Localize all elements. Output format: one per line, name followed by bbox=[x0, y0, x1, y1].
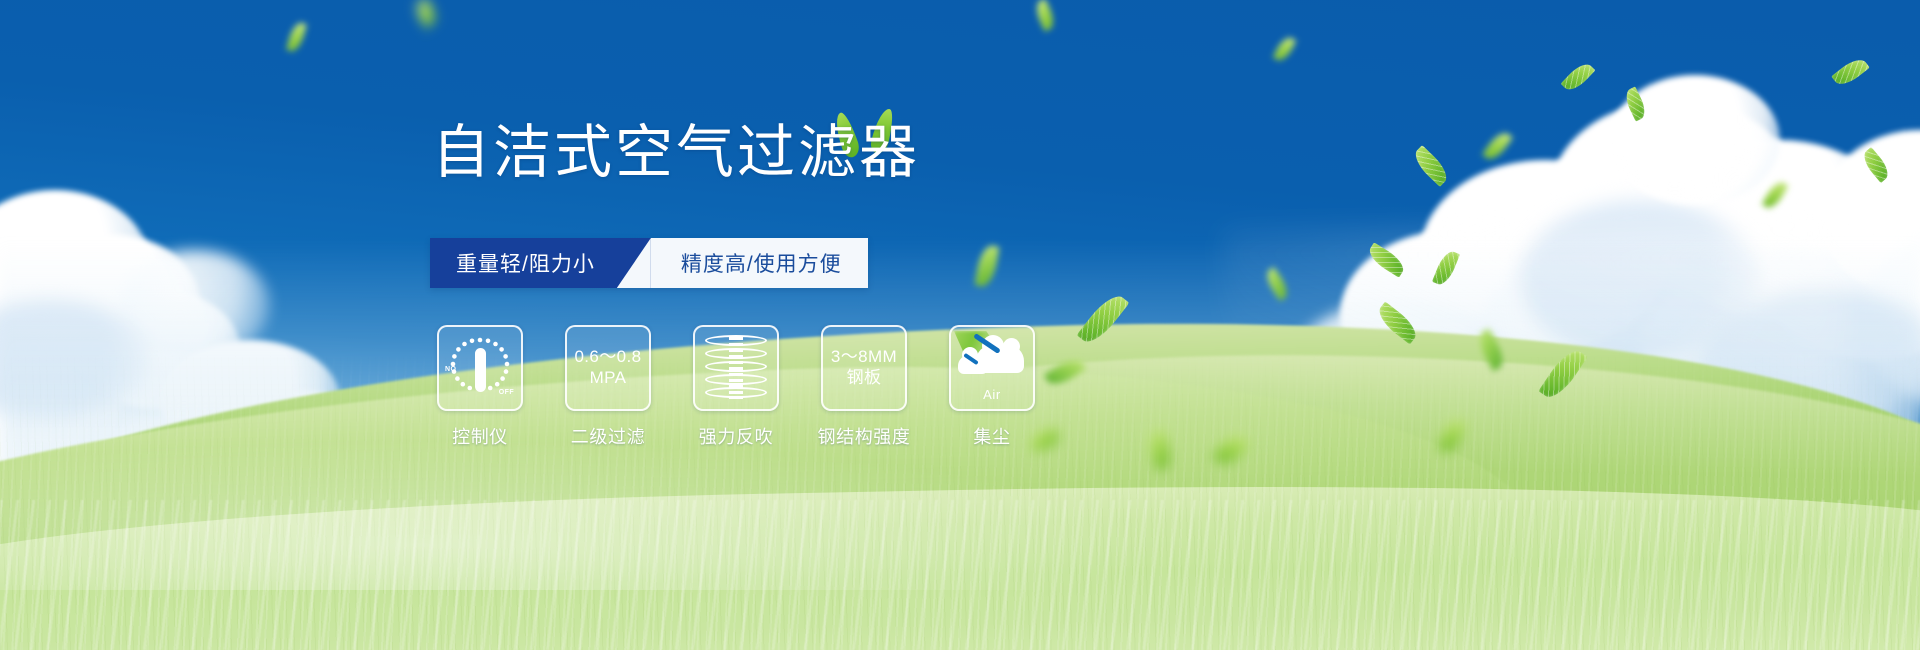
feature-tag-group: 重量轻/阻力小 精度高/使用方便 bbox=[430, 238, 868, 288]
feature-label: 集尘 bbox=[973, 423, 1010, 449]
gauge-on-label: NO bbox=[445, 366, 456, 373]
feature-icon-box bbox=[693, 325, 779, 411]
feature-label: 控制仪 bbox=[452, 423, 508, 449]
coil-ring bbox=[705, 374, 767, 385]
pressure-value: 0.6～0.8 bbox=[574, 347, 641, 368]
steel-plate-icon: 3～8MM 钢板 bbox=[831, 347, 897, 388]
tag-precision-convenience[interactable]: 精度高/使用方便 bbox=[651, 238, 868, 288]
feature-icon-box: 3～8MM 钢板 bbox=[821, 325, 907, 411]
pressure-icon: 0.6～0.8 MPA bbox=[574, 347, 641, 388]
feature-controller[interactable]: NO OFF 控制仪 bbox=[430, 325, 530, 449]
coil-filter-icon bbox=[705, 335, 767, 401]
gauge-off-label: OFF bbox=[499, 389, 514, 396]
steel-thickness: 3～8MM bbox=[831, 347, 897, 368]
feature-icon-box: NO OFF bbox=[437, 325, 523, 411]
gauge-dial-icon: NO OFF bbox=[444, 332, 516, 404]
tag-weight-resistance[interactable]: 重量轻/阻力小 bbox=[430, 238, 617, 288]
steel-material: 钢板 bbox=[831, 368, 897, 389]
feature-steel-strength[interactable]: 3～8MM 钢板 钢结构强度 bbox=[814, 325, 914, 449]
air-cloud-icon: Air bbox=[956, 337, 1028, 399]
coil-ring bbox=[705, 348, 767, 359]
air-label: Air bbox=[956, 387, 1028, 402]
feature-label: 强力反吹 bbox=[699, 423, 773, 449]
pressure-unit: MPA bbox=[574, 368, 641, 389]
banner-content: 自洁式空气过滤器 重量轻/阻力小 精度高/使用方便 bbox=[0, 0, 1920, 650]
hero-banner: 自洁式空气过滤器 重量轻/阻力小 精度高/使用方便 bbox=[0, 0, 1920, 650]
coil-ring bbox=[705, 335, 767, 346]
tag-diagonal-divider bbox=[617, 238, 651, 288]
page-title: 自洁式空气过滤器 bbox=[432, 124, 920, 182]
feature-two-stage-filter[interactable]: 0.6～0.8 MPA 二级过滤 bbox=[558, 325, 658, 449]
coil-ring bbox=[705, 361, 767, 372]
feature-label: 钢结构强度 bbox=[818, 423, 911, 449]
feature-icon-box: Air bbox=[949, 325, 1035, 411]
feature-strong-blowback[interactable]: 强力反吹 bbox=[686, 325, 786, 449]
gauge-needle-icon bbox=[475, 348, 486, 392]
feature-dust-collection[interactable]: Air 集尘 bbox=[942, 325, 1042, 449]
feature-icon-box: 0.6～0.8 MPA bbox=[565, 325, 651, 411]
feature-label: 二级过滤 bbox=[571, 423, 645, 449]
coil-ring bbox=[705, 387, 767, 398]
feature-icon-row: NO OFF 控制仪 0.6～0.8 MPA 二级过滤 bbox=[430, 325, 1042, 449]
